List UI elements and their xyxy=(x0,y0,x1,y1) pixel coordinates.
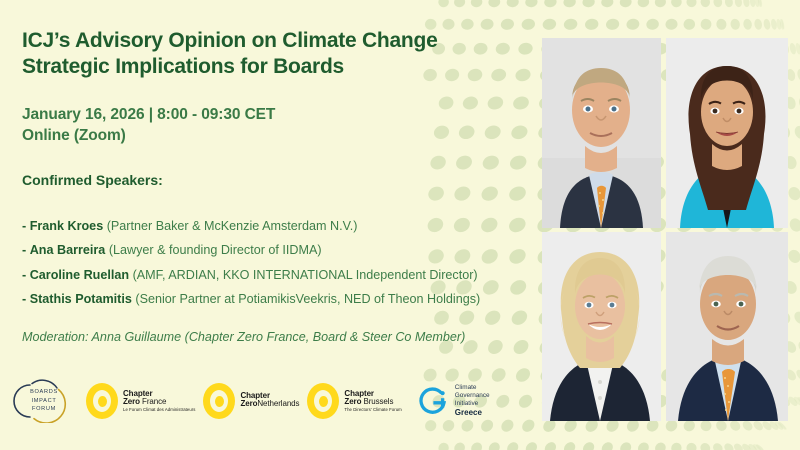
chapter-zero-france-wordmark: Chapter Zero France Le Forum Climat des … xyxy=(123,390,195,413)
logo-chapter-zero-brussels: Chapter Zero Brussels The Directors' Cli… xyxy=(307,378,401,424)
bullet-dash: - xyxy=(22,243,26,257)
webinar-flyer: ICJ’s Advisory Opinion on Climate Change… xyxy=(0,0,800,450)
speaker-name: Stathis Potamitis xyxy=(30,292,132,306)
speaker-description: (AMF, ARDIAN, KKO INTERNATIONAL Independ… xyxy=(133,268,478,282)
logo-boards-impact-forum: BOARDS IMPACT FORUM xyxy=(10,379,78,423)
bullet-dash: - xyxy=(22,268,26,282)
logo-chapter-zero-netherlands: Chapter ZeroNetherlands xyxy=(203,378,299,424)
bif-line-2: IMPACT xyxy=(32,397,57,406)
speaker-photo-frank-kroes xyxy=(542,38,661,228)
speaker-list: - Frank Kroes (Partner Baker & McKenzie … xyxy=(22,214,562,311)
speaker-description: (Lawyer & founding Director of IIDMA) xyxy=(109,243,322,257)
chapter-zero-dot-icon xyxy=(215,396,224,407)
logo-chapter-zero-france: Chapter Zero France Le Forum Climat des … xyxy=(86,378,195,424)
chapter-zero-ring-icon xyxy=(86,383,118,419)
cgi-word-climate: Climate xyxy=(455,384,490,392)
cgi-word-greece: Greece xyxy=(455,408,490,418)
page-title: ICJ’s Advisory Opinion on Climate Change… xyxy=(22,28,542,81)
cgi-greece-wordmark: Climate Governance Initiative Greece xyxy=(455,384,490,419)
cz-fr-line-2: Zero France xyxy=(123,398,195,406)
bif-line-1: BOARDS xyxy=(30,388,58,397)
speaker-row: - Frank Kroes (Partner Baker & McKenzie … xyxy=(22,214,562,238)
chapter-zero-ring-icon xyxy=(203,383,235,419)
cz-fr-country: France xyxy=(140,397,166,406)
speaker-photo-stathis-potamitis xyxy=(666,232,788,421)
bullet-dash: - xyxy=(22,219,26,233)
speaker-photo-caroline-ruellan xyxy=(542,232,661,421)
cz-nl-line-2: ZeroNetherlands xyxy=(240,400,299,408)
title-line-1: ICJ’s Advisory Opinion on Climate Change xyxy=(22,29,438,52)
chapter-zero-ring-icon xyxy=(307,383,339,419)
speaker-photo-ana-barreira xyxy=(666,38,788,228)
cgi-g-icon xyxy=(416,384,450,418)
bif-line-3: FORUM xyxy=(32,405,56,414)
cgi-word-initiative: Initiative xyxy=(455,400,490,408)
speaker-row: - Caroline Ruellan (AMF, ARDIAN, KKO INT… xyxy=(22,263,562,287)
datetime-line-2: Online (Zoom) xyxy=(22,125,542,146)
speaker-name: Caroline Ruellan xyxy=(30,268,129,282)
speaker-row: - Ana Barreira (Lawyer & founding Direct… xyxy=(22,238,562,262)
cz-nl-zero: Zero xyxy=(240,399,257,408)
chapter-zero-brussels-wordmark: Chapter Zero Brussels The Directors' Cli… xyxy=(344,390,401,413)
cz-br-tagline: The Directors' Climate Forum xyxy=(344,408,401,413)
cz-br-country: Brussels xyxy=(361,397,393,406)
logo-climate-governance-initiative-greece: Climate Governance Initiative Greece xyxy=(416,378,490,424)
speaker-description: (Partner Baker & McKenzie Amsterdam N.V.… xyxy=(107,219,358,233)
bullet-dash: - xyxy=(22,292,26,306)
cz-br-zero: Zero xyxy=(344,397,361,406)
boards-impact-forum-wordmark: BOARDS IMPACT FORUM xyxy=(10,379,78,423)
event-datetime: January 16, 2026 | 8:00 - 09:30 CET Onli… xyxy=(22,104,542,147)
cz-nl-country: Netherlands xyxy=(257,399,299,408)
speaker-name: Ana Barreira xyxy=(30,243,106,257)
speakers-heading: Confirmed Speakers: xyxy=(22,172,163,188)
datetime-line-1: January 16, 2026 | 8:00 - 09:30 CET xyxy=(22,106,275,123)
moderation-line: Moderation: Anna Guillaume (Chapter Zero… xyxy=(22,330,465,344)
chapter-zero-netherlands-wordmark: Chapter ZeroNetherlands xyxy=(240,392,299,410)
cz-br-line-2: Zero Brussels xyxy=(344,398,401,406)
speaker-name: Frank Kroes xyxy=(30,219,104,233)
title-line-2: Strategic Implications for Boards xyxy=(22,54,542,80)
chapter-zero-dot-icon xyxy=(319,396,328,407)
speaker-row: - Stathis Potamitis (Senior Partner at P… xyxy=(22,287,562,311)
cgi-word-governance: Governance xyxy=(455,392,490,400)
speaker-photo-grid xyxy=(542,38,788,421)
speaker-description: (Senior Partner at PotiamikisVeekris, NE… xyxy=(135,292,480,306)
chapter-zero-dot-icon xyxy=(98,396,107,407)
logo-strip: BOARDS IMPACT FORUM Chapter Zero France … xyxy=(10,376,530,426)
cz-fr-tagline: Le Forum Climat des Administrateurs xyxy=(123,408,195,413)
cz-fr-zero: Zero xyxy=(123,397,140,406)
